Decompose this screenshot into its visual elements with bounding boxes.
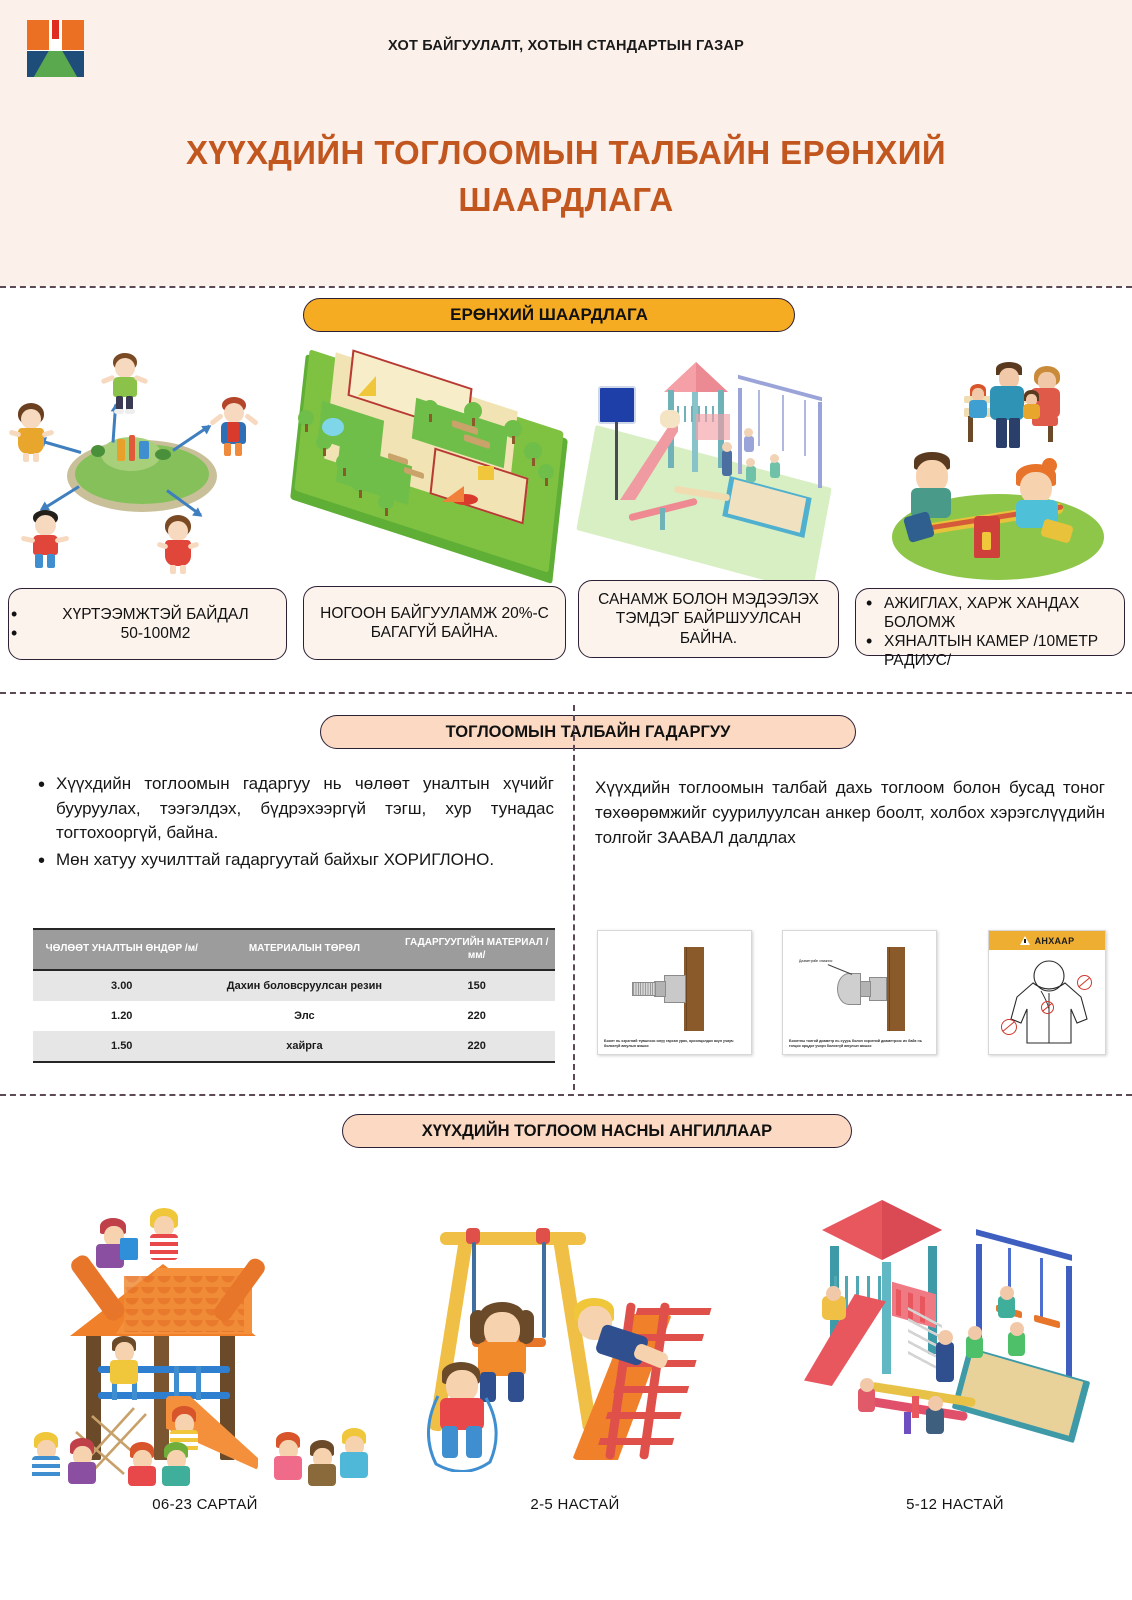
illustration-isometric-playground-tower (800, 1190, 1120, 1480)
jump-rope-icon (424, 1386, 504, 1472)
table-cell: Элс (210, 1001, 398, 1031)
organization-name: ХОТ БАЙГУУЛАЛТ, ХОТЫН СТАНДАРТЫН ГАЗАР (0, 38, 1132, 54)
callout-1-bullet-2: 50-100М2 (25, 624, 286, 643)
table-header-cell: ГАДАРГУУГИЙН МАТЕРИАЛ /мм/ (398, 929, 555, 970)
table-cell: Дахин боловсруулсан резин (210, 970, 398, 1001)
section-divider-1 (0, 286, 1132, 288)
kid-figure (155, 515, 201, 577)
figure-2-leader-label: Диаметрийн хэмжээс (799, 959, 833, 964)
section1-heading: ЕРӨНХИЙ ШААРДЛАГА (303, 298, 795, 332)
age-label-3: 5-12 НАСТАЙ (810, 1496, 1100, 1513)
callout-2-text: НОГООН БАЙГУУЛАМЖ 20%-С БАГАГҮЙ БАЙНА. (304, 604, 565, 642)
callout-4-bullet-1: АЖИГЛАХ, ХАРЖ ХАНДАХ БОЛОМЖ (866, 594, 1124, 632)
illustration-playground-with-information-sign (578, 358, 848, 580)
section-divider-2 (0, 692, 1132, 694)
table-row: 3.00 Дахин боловсруулсан резин 150 (33, 970, 555, 1001)
figure-2-caption: Боолтны толгой диаметр нь суурь болон хэ… (789, 1039, 930, 1049)
section2-left-bullets: Хүүхдийн тоглоомын гадаргуу нь чөлөөт ун… (34, 772, 554, 875)
section-divider-3 (0, 1094, 1132, 1096)
table-cell: 220 (398, 1031, 555, 1062)
prohibited-icon (1001, 1019, 1017, 1035)
callout-box-4: АЖИГЛАХ, ХАРЖ ХАНДАХ БОЛОМЖ ХЯНАЛТЫН КАМ… (855, 588, 1125, 656)
warning-label: АНХААР (1035, 936, 1075, 946)
callout-4-bullet-2: ХЯНАЛТЫН КАМЕР /10МЕТР РАДИУС/ (866, 632, 1124, 670)
infographic-page: ХОТ БАЙГУУЛАЛТ, ХОТЫН СТАНДАРТЫН ГАЗАР Х… (0, 0, 1132, 1600)
illustration-swing-and-slide-kids (420, 1190, 720, 1480)
warning-triangle-icon (1020, 936, 1030, 945)
section2-heading: ТОГЛООМЫН ТАЛБАЙН ГАДАРГУУ (320, 715, 856, 749)
kid-figure (209, 397, 257, 463)
age-label-2: 2-5 НАСТАЙ (430, 1496, 720, 1513)
illustration-toddler-playhouse-slide (24, 1190, 394, 1480)
table-header-cell: МАТЕРИАЛЫН ТӨРӨЛ (210, 929, 398, 970)
callout-box-1: ХҮРТЭЭМЖТЭЙ БАЙДАЛ 50-100М2 (8, 588, 287, 660)
kid-figure (21, 510, 69, 574)
figure-warning-jacket-drawstring: АНХААР (988, 930, 1106, 1055)
table-cell: 150 (398, 970, 555, 1001)
page-header: ХОТ БАЙГУУЛАЛТ, ХОТЫН СТАНДАРТЫН ГАЗАР Х… (0, 0, 1132, 286)
figure-1-caption: Боолт нь хэрэгний түвшнээс илүү гарсан у… (604, 1039, 745, 1049)
age-label-1: 06-23 САРТАЙ (30, 1496, 380, 1513)
table-row: 1.50 хайрга 220 (33, 1031, 555, 1062)
prohibited-icon (1041, 1001, 1054, 1014)
table-cell: 220 (398, 1001, 555, 1031)
callout-1-bullet-1: ХҮРТЭЭМЖТЭЙ БАЙДАЛ (25, 605, 286, 624)
figure-bolt-dome-head-diagram: Диаметрийн хэмжээс Боолтны толгой диамет… (782, 930, 937, 1055)
page-title: ХҮҮХДИЙН ТОГЛООМЫН ТАЛБАЙН ЕРӨНХИЙ ШААРД… (90, 130, 1042, 224)
prohibited-icon (1077, 975, 1092, 990)
table-header-cell: ЧӨЛӨӨТ УНАЛТЫН ӨНДӨР /м/ (33, 929, 210, 970)
kid-figure (101, 353, 147, 415)
surface-material-table: ЧӨЛӨӨТ УНАЛТЫН ӨНДӨР /м/ МАТЕРИАЛЫН ТӨРӨ… (33, 928, 555, 1063)
illustration-family-watching-children-seesaw (856, 356, 1128, 582)
column-divider (573, 705, 575, 1090)
section3-heading: ХҮҮХДИЙН ТОГЛООМ НАСНЫ АНГИЛЛААР (342, 1114, 852, 1148)
section2-right-paragraph: Хүүхдийн тоглоомын талбай дахь тоглоом б… (595, 775, 1105, 850)
table-cell: 3.00 (33, 970, 210, 1001)
illustration-isometric-park-map (292, 358, 570, 580)
table-cell: 1.20 (33, 1001, 210, 1031)
callout-box-3: САНАМЖ БОЛОН МЭДЭЭЛЭХ ТЭМДЭГ БАЙРШУУЛСАН… (578, 580, 839, 658)
table-row: 1.20 Элс 220 (33, 1001, 555, 1031)
left-bullet-1: Хүүхдийн тоглоомын гадаргуу нь чөлөөт ун… (34, 772, 554, 846)
table-header-row: ЧӨЛӨӨТ УНАЛТЫН ӨНДӨР /м/ МАТЕРИАЛЫН ТӨРӨ… (33, 929, 555, 970)
table-cell: хайрга (210, 1031, 398, 1062)
kid-figure (9, 403, 53, 465)
information-sign-icon (598, 386, 636, 424)
table-cell: 1.50 (33, 1031, 210, 1062)
callout-3-text: САНАМЖ БОЛОН МЭДЭЭЛЭХ ТЭМДЭГ БАЙРШУУЛСАН… (579, 590, 838, 647)
warning-header: АНХААР (989, 931, 1105, 950)
illustration-children-around-playground-island (5, 345, 285, 580)
callout-box-2: НОГООН БАЙГУУЛАМЖ 20%-С БАГАГҮЙ БАЙНА. (303, 586, 566, 660)
left-bullet-2: Мөн хатуу хучилттай гадаргуутай байхыг Х… (34, 848, 554, 873)
figure-bolt-flush-diagram: Боолт нь хэрэгний түвшнээс илүү гарсан у… (597, 930, 752, 1055)
